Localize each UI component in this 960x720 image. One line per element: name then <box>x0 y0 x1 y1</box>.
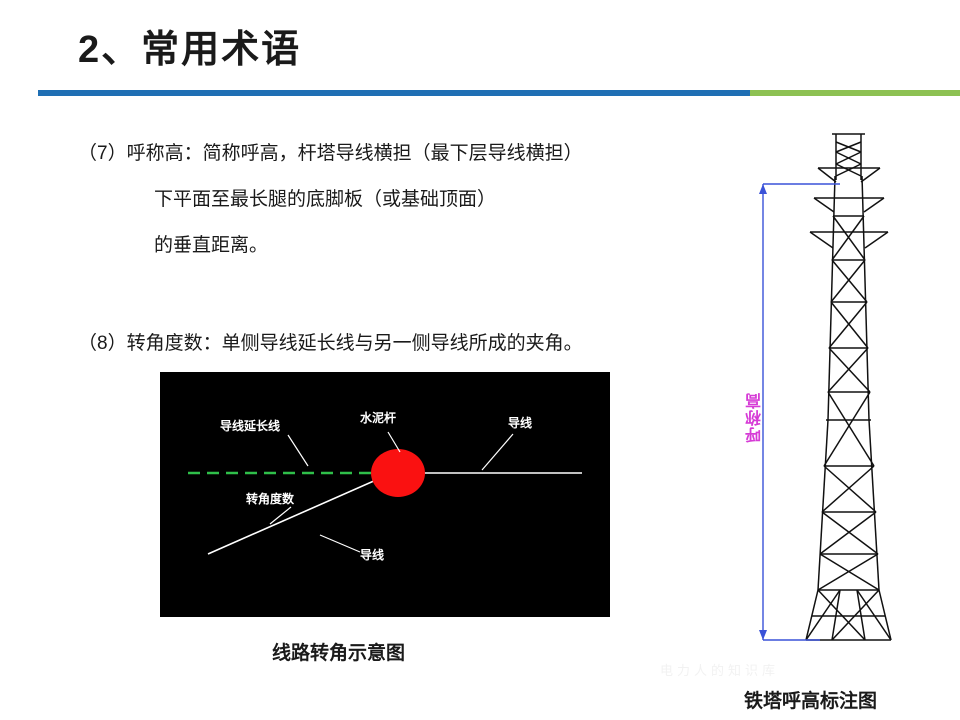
paragraph-7-line-2: 下平面至最长腿的底脚板（或基础顶面） <box>154 186 496 214</box>
slide: 2、常用术语 （7）呼称高：简称呼高，杆塔导线横担（最下层导线横担） 下平面至最… <box>0 0 960 720</box>
tower-diagram <box>740 120 960 665</box>
label-turn-angle: 转角度数 <box>246 491 295 506</box>
label-conductor-right: 导线 <box>508 415 532 430</box>
paragraph-8-line-1: （8）转角度数：单侧导线延长线与另一侧导线所成的夹角。 <box>78 330 583 358</box>
turn-angle-diagram: 导线延长线 水泥杆 导线 转角度数 导线 <box>160 372 610 617</box>
paragraph-7-line-1: （7）呼称高：简称呼高，杆塔导线横担（最下层导线横担） <box>78 140 583 168</box>
label-conductor-bottom: 导线 <box>360 547 384 562</box>
figure-right-caption: 铁塔呼高标注图 <box>744 686 877 713</box>
label-concrete-pole: 水泥杆 <box>360 410 396 425</box>
label-conductor-extension: 导线延长线 <box>220 418 280 433</box>
watermark: 电力人的知识库 <box>660 660 779 679</box>
title-rule-green <box>750 90 960 96</box>
figure-left-caption: 线路转角示意图 <box>272 638 405 665</box>
paragraph-7-line-3: 的垂直距离。 <box>154 232 268 260</box>
title-rule-blue <box>38 90 750 96</box>
dimension-label: 呼称高 <box>744 392 764 443</box>
page-title: 2、常用术语 <box>78 18 301 73</box>
